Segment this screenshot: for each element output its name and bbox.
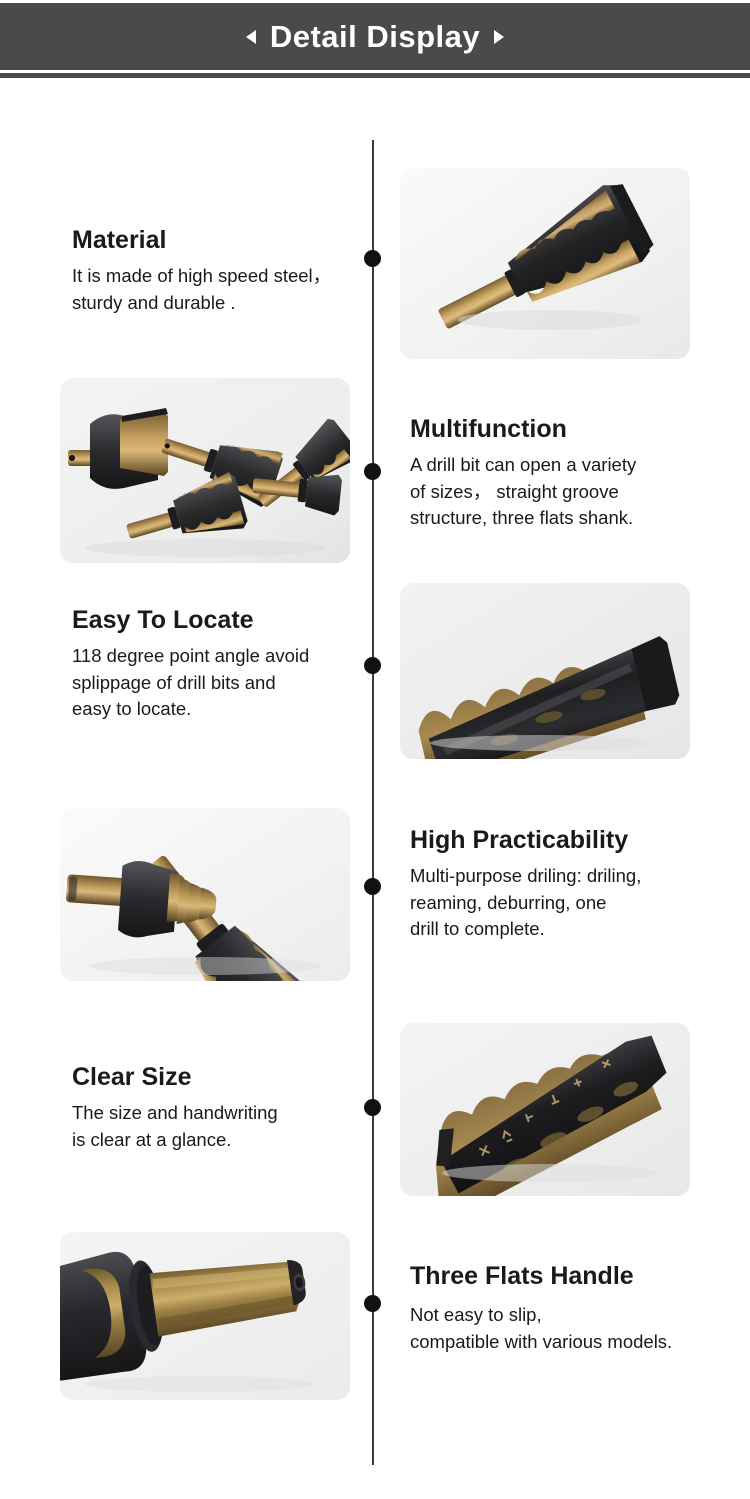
detail-display-page: Detail Display Material It is made of hi… bbox=[0, 0, 750, 1499]
page-header: Detail Display bbox=[0, 0, 750, 80]
section-text-three-flats-handle: Three Flats Handle Not easy to slip, com… bbox=[410, 1262, 700, 1355]
timeline-dot-high-practicability bbox=[364, 1099, 381, 1116]
section-body-three-flats-handle: Not easy to slip, compatible with variou… bbox=[410, 1302, 700, 1355]
timeline-dot-clear-size bbox=[364, 1295, 381, 1312]
section-body-material: It is made of high speed steel， sturdy a… bbox=[72, 263, 362, 316]
section-body-easy-to-locate: 118 degree point angle avoid splippage o… bbox=[72, 643, 362, 723]
photo-two-crossed-drill-bits bbox=[60, 808, 350, 981]
timeline-line bbox=[372, 140, 374, 1465]
photo-step-drill-bit-set bbox=[60, 378, 350, 563]
section-text-material: Material It is made of high speed steel，… bbox=[72, 226, 362, 316]
timeline-dot-three-flats-handle bbox=[364, 250, 381, 267]
section-title-multifunction: Multifunction bbox=[410, 415, 695, 443]
photo-engraved-size-markings bbox=[400, 1023, 690, 1196]
section-body-clear-size: The size and handwriting is clear at a g… bbox=[72, 1100, 362, 1153]
section-text-multifunction: Multifunction A drill bit can open a var… bbox=[410, 415, 695, 532]
photo-straight-flute-closeup bbox=[400, 583, 690, 759]
section-title-clear-size: Clear Size bbox=[72, 1063, 362, 1091]
header-bar: Detail Display bbox=[0, 3, 750, 70]
section-title-material: Material bbox=[72, 226, 362, 254]
timeline-dot-multifunction bbox=[364, 657, 381, 674]
timeline-dot-material bbox=[364, 463, 381, 480]
section-text-easy-to-locate: Easy To Locate 118 degree point angle av… bbox=[72, 606, 362, 723]
section-title-easy-to-locate: Easy To Locate bbox=[72, 606, 362, 634]
section-body-multifunction: A drill bit can open a variety of sizes，… bbox=[410, 452, 695, 532]
section-title-high-practicability: High Practicability bbox=[410, 826, 695, 854]
photo-three-flats-shank bbox=[60, 1232, 350, 1400]
page-title: Detail Display bbox=[270, 21, 480, 52]
photo-step-drill-bit-single bbox=[400, 168, 690, 359]
triangle-left-icon bbox=[246, 30, 256, 44]
header-underline bbox=[0, 73, 750, 78]
timeline-dot-easy-to-locate bbox=[364, 878, 381, 895]
section-text-high-practicability: High Practicability Multi-purpose drilin… bbox=[410, 826, 695, 943]
triangle-right-icon bbox=[494, 30, 504, 44]
section-text-clear-size: Clear Size The size and handwriting is c… bbox=[72, 1063, 362, 1153]
section-body-high-practicability: Multi-purpose driling: driling, reaming,… bbox=[410, 863, 695, 943]
section-title-three-flats-handle: Three Flats Handle bbox=[410, 1262, 700, 1290]
